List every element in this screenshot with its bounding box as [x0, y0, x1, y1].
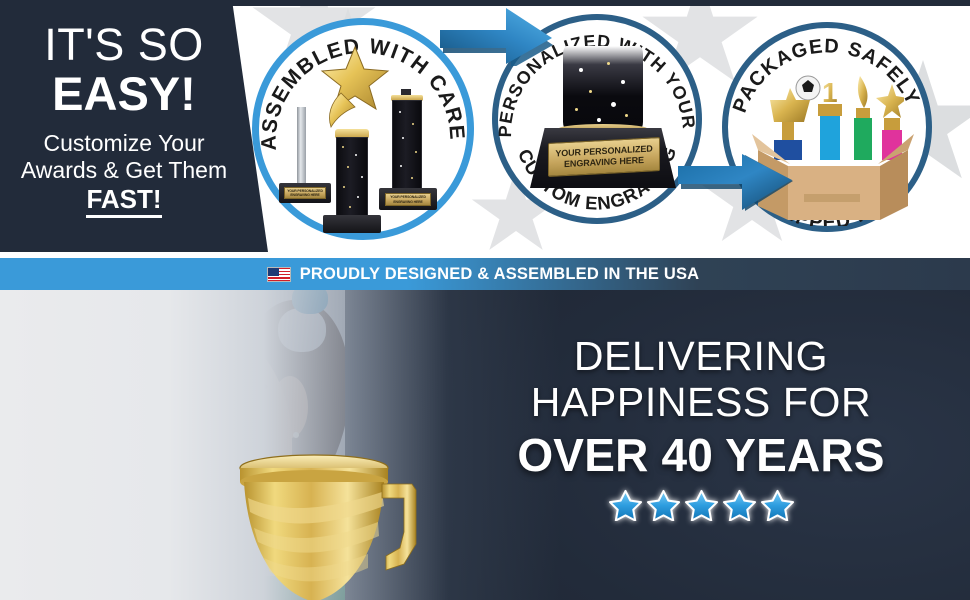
promotional-banner: IT'S SO EASY! Customize Your Awards & Ge…	[0, 0, 970, 600]
engraving-plate-2: YOUR PERSONALIZED ENGRAVING HERE	[385, 193, 431, 206]
trophy-column-right	[392, 100, 422, 190]
rating-star-icon	[647, 489, 680, 521]
subheadline-line-2: Awards & Get Them	[0, 157, 248, 184]
headline-its-so: IT'S SO	[0, 22, 248, 67]
rating-star-icon	[609, 489, 642, 521]
bottom-message-block: DELIVERING HAPPINESS FOR OVER 40 YEARS	[466, 334, 936, 521]
rating-star-icon	[761, 489, 794, 521]
rating-stars	[466, 489, 936, 521]
rating-star-icon	[685, 489, 718, 521]
process-arrow-2-icon	[676, 152, 796, 214]
usa-banner-text: PROUDLY DESIGNED & ASSEMBLED IN THE USA	[300, 265, 700, 284]
message-line-2: HAPPINESS FOR	[466, 380, 936, 426]
top-accent-strip	[0, 0, 970, 6]
process-arrow-1-icon	[438, 4, 558, 66]
trophy-column-center	[336, 137, 368, 217]
usa-banner-row: PROUDLY DESIGNED & ASSEMBLED IN THE USA	[267, 265, 700, 284]
subheadline-fast: FAST!	[86, 185, 161, 219]
engraving-plate-main: YOUR PERSONALIZED ENGRAVING HERE	[548, 137, 660, 177]
us-flag-icon	[267, 267, 291, 282]
headline-block: IT'S SO EASY! Customize Your Awards & Ge…	[0, 22, 248, 218]
plate-line-2: ENGRAVING HERE	[290, 193, 319, 197]
plate-line-2: ENGRAVING HERE	[393, 200, 422, 204]
starry-column	[563, 46, 643, 130]
engraving-plate-1: YOUR PERSONALIZED ENGRAVING HERE	[284, 187, 326, 199]
trophy-base-center	[323, 215, 381, 233]
rating-star-icon	[723, 489, 756, 521]
message-line-1: DELIVERING	[466, 334, 936, 380]
gold-shooting-star-icon	[311, 41, 397, 133]
message-line-3: OVER 40 YEARS	[466, 428, 936, 482]
trophy-column-silver	[297, 107, 306, 185]
gold-trophy-cup-icon	[236, 452, 436, 600]
headline-easy: EASY!	[0, 69, 248, 118]
top-process-section: IT'S SO EASY! Customize Your Awards & Ge…	[0, 0, 970, 252]
subheadline-line-1: Customize Your	[0, 130, 248, 157]
usa-banner: PROUDLY DESIGNED & ASSEMBLED IN THE USA	[0, 258, 970, 290]
svg-text:1: 1	[822, 77, 838, 108]
bottom-hero-section: DELIVERING HAPPINESS FOR OVER 40 YEARS	[0, 290, 970, 600]
